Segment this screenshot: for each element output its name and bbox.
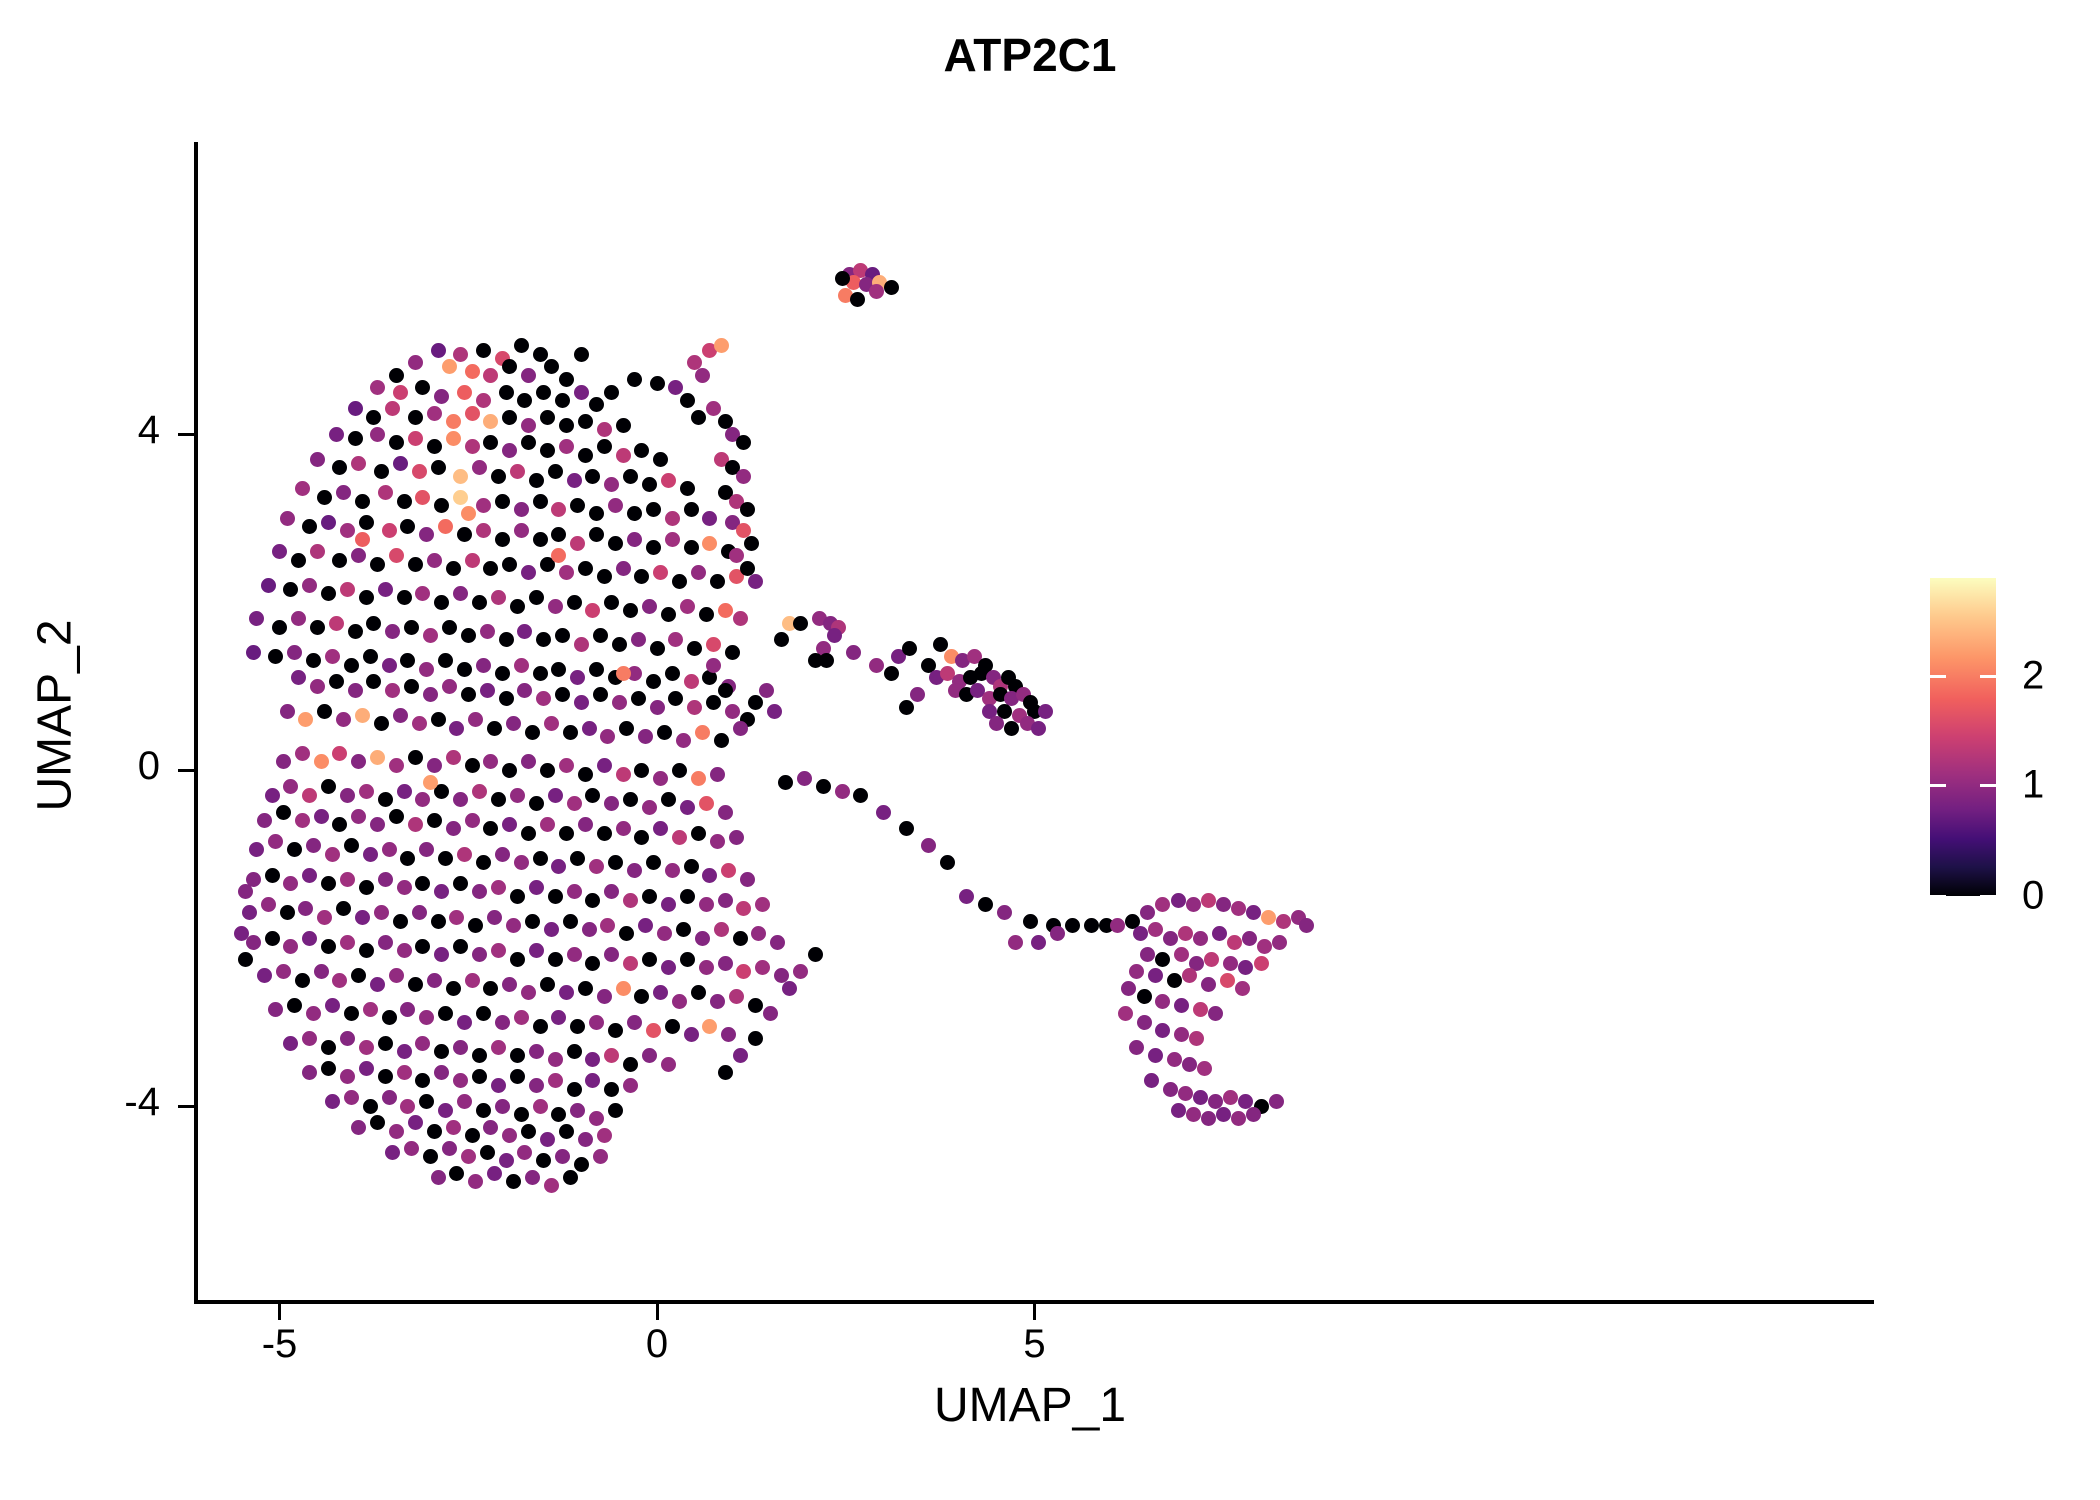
scatter-point: [415, 586, 430, 601]
scatter-point: [729, 830, 744, 845]
scatter-point: [453, 939, 468, 954]
scatter-point: [529, 473, 544, 488]
scatter-point: [695, 368, 710, 383]
scatter-point: [653, 821, 668, 836]
scatter-point: [397, 880, 412, 895]
scatter-point: [1208, 1094, 1223, 1109]
scatter-point: [502, 557, 517, 572]
scatter-point: [397, 1044, 412, 1059]
scatter-point: [642, 1048, 657, 1063]
scatter-point: [842, 267, 857, 282]
scatter-point: [423, 687, 438, 702]
colorbar-tick-label: 1: [2022, 763, 2044, 808]
scatter-point: [559, 985, 574, 1000]
scatter-point: [495, 532, 510, 547]
scatter-point: [668, 380, 683, 395]
scatter-point: [389, 548, 404, 563]
scatter-point: [400, 519, 415, 534]
scatter-point: [634, 569, 649, 584]
scatter-point: [933, 637, 948, 652]
scatter-point: [646, 1023, 661, 1038]
scatter-point: [646, 855, 661, 870]
scatter-point: [453, 1073, 468, 1088]
scatter-point: [1171, 893, 1186, 908]
scatter-point: [453, 792, 468, 807]
scatter-point: [521, 368, 536, 383]
scatter-point: [261, 578, 276, 593]
scatter-point: [585, 893, 600, 908]
scatter-point: [438, 1103, 453, 1118]
scatter-point: [1129, 964, 1144, 979]
scatter-point: [472, 1048, 487, 1063]
scatter-point: [714, 733, 729, 748]
scatter-point: [506, 1174, 521, 1189]
scatter-point: [272, 544, 287, 559]
scatter-point: [725, 515, 740, 530]
scatter-point: [567, 884, 582, 899]
scatter-point: [672, 574, 687, 589]
scatter-point: [559, 372, 574, 387]
scatter-point: [461, 628, 476, 643]
scatter-point: [465, 406, 480, 421]
scatter-point: [540, 410, 555, 425]
scatter-point: [351, 809, 366, 824]
scatter-point: [544, 716, 559, 731]
scatter-point: [608, 670, 623, 685]
scatter-point: [718, 805, 733, 820]
scatter-point: [608, 1103, 623, 1118]
scatter-point: [298, 901, 313, 916]
scatter-point: [559, 418, 574, 433]
scatter-point: [434, 498, 449, 513]
scatter-point: [729, 494, 744, 509]
scatter-point: [665, 1019, 680, 1034]
scatter-point: [397, 943, 412, 958]
scatter-point: [321, 586, 336, 601]
scatter-point: [453, 876, 468, 891]
scatter-point: [567, 947, 582, 962]
scatter-point: [483, 435, 498, 450]
scatter-point: [298, 712, 313, 727]
scatter-point: [710, 994, 725, 1009]
scatter-point: [1121, 981, 1136, 996]
scatter-point: [691, 826, 706, 841]
scatter-point: [835, 784, 850, 799]
scatter-point: [483, 981, 498, 996]
scatter-point: [623, 792, 638, 807]
scatter-point: [382, 658, 397, 673]
scatter-point: [1223, 956, 1238, 971]
scatter-point: [604, 595, 619, 610]
scatter-point: [536, 632, 551, 647]
scatter-point: [374, 464, 389, 479]
scatter-point: [1133, 926, 1148, 941]
scatter-point: [755, 960, 770, 975]
scatter-point: [499, 632, 514, 647]
scatter-point: [755, 897, 770, 912]
scatter-point: [578, 414, 593, 429]
scatter-point: [419, 527, 434, 542]
scatter-point: [351, 548, 366, 563]
y-axis-line: [194, 142, 198, 1304]
scatter-point: [378, 1069, 393, 1084]
scatter-point: [321, 1040, 336, 1055]
scatter-point: [1223, 1090, 1238, 1105]
scatter-point: [978, 897, 993, 912]
scatter-point: [725, 645, 740, 660]
scatter-point: [431, 1170, 446, 1185]
scatter-point: [585, 469, 600, 484]
scatter-point: [359, 515, 374, 530]
scatter-point: [280, 704, 295, 719]
scatter-point: [348, 431, 363, 446]
scatter-point: [578, 981, 593, 996]
scatter-point: [302, 868, 317, 883]
scatter-point: [869, 658, 884, 673]
scatter-point: [574, 695, 589, 710]
scatter-point: [627, 863, 642, 878]
scatter-point: [238, 884, 253, 899]
scatter-point: [570, 536, 585, 551]
scatter-point: [891, 649, 906, 664]
scatter-point: [246, 872, 261, 887]
scatter-point: [710, 767, 725, 782]
scatter-point: [272, 620, 287, 635]
scatter-point: [502, 410, 517, 425]
scatter-point: [634, 830, 649, 845]
scatter-point: [808, 653, 823, 668]
scatter-point: [480, 624, 495, 639]
scatter-point: [548, 1073, 563, 1088]
scatter-point: [585, 1052, 600, 1067]
scatter-point: [910, 687, 925, 702]
scatter-point: [699, 607, 714, 622]
scatter-point: [859, 277, 874, 292]
scatter-point: [314, 809, 329, 824]
scatter-point: [468, 712, 483, 727]
scatter-point: [302, 578, 317, 593]
scatter-point: [415, 939, 430, 954]
scatter-point: [963, 670, 978, 685]
scatter-point: [672, 763, 687, 778]
scatter-point: [355, 494, 370, 509]
colorbar-tick-mark: [1930, 675, 1946, 678]
scatter-point: [400, 851, 415, 866]
scatter-point: [495, 351, 510, 366]
scatter-point: [869, 284, 884, 299]
scatter-point: [283, 582, 298, 597]
scatter-point: [567, 796, 582, 811]
scatter-point: [472, 460, 487, 475]
scatter-point: [393, 708, 408, 723]
scatter-point: [661, 1057, 676, 1072]
scatter-point: [884, 666, 899, 681]
scatter-point: [1163, 1082, 1178, 1097]
scatter-point: [431, 712, 446, 727]
scatter-point: [329, 616, 344, 631]
scatter-point: [661, 960, 676, 975]
scatter-point: [597, 758, 612, 773]
scatter-point: [291, 553, 306, 568]
scatter-point: [487, 1166, 502, 1181]
scatter-point: [393, 914, 408, 929]
scatter-point: [1291, 910, 1306, 925]
scatter-point: [370, 557, 385, 572]
scatter-point: [370, 427, 385, 442]
scatter-point: [374, 716, 389, 731]
scatter-point: [340, 872, 355, 887]
scatter-point: [415, 876, 430, 891]
scatter-point: [1155, 897, 1170, 912]
scatter-point: [865, 267, 880, 282]
scatter-point: [627, 1015, 642, 1030]
scatter-point: [397, 1065, 412, 1080]
scatter-point: [657, 926, 672, 941]
scatter-point: [461, 1149, 476, 1164]
scatter-point: [585, 956, 600, 971]
scatter-point: [1208, 1006, 1223, 1021]
scatter-point: [476, 498, 491, 513]
scatter-point: [714, 338, 729, 353]
scatter-point: [582, 922, 597, 937]
scatter-point: [314, 754, 329, 769]
scatter-point: [1201, 1111, 1216, 1126]
scatter-point: [551, 1010, 566, 1025]
scatter-point: [472, 947, 487, 962]
scatter-point: [597, 569, 612, 584]
scatter-point: [702, 536, 717, 551]
scatter-point: [238, 952, 253, 967]
scatter-point: [634, 989, 649, 1004]
scatter-point: [446, 414, 461, 429]
scatter-point: [344, 1006, 359, 1021]
scatter-point: [408, 817, 423, 832]
scatter-point: [1050, 926, 1065, 941]
scatter-point: [502, 817, 517, 832]
scatter-point: [970, 683, 985, 698]
scatter-point: [899, 700, 914, 715]
y-tick-mark: [178, 769, 194, 772]
scatter-point: [653, 565, 668, 580]
scatter-point: [997, 704, 1012, 719]
scatter-point: [729, 569, 744, 584]
scatter-point: [680, 952, 695, 967]
scatter-point: [831, 620, 846, 635]
scatter-point: [718, 893, 733, 908]
scatter-point: [536, 385, 551, 400]
scatter-point: [476, 658, 491, 673]
scatter-point: [551, 859, 566, 874]
scatter-point: [517, 1145, 532, 1160]
scatter-point: [465, 813, 480, 828]
scatter-point: [385, 683, 400, 698]
scatter-point: [721, 679, 736, 694]
scatter-point: [517, 393, 532, 408]
scatter-point: [499, 691, 514, 706]
scatter-point: [359, 1040, 374, 1055]
scatter-point: [627, 506, 642, 521]
scatter-point: [642, 800, 657, 815]
scatter-point: [351, 754, 366, 769]
scatter-point: [1272, 935, 1287, 950]
scatter-point: [268, 1002, 283, 1017]
scatter-point: [1235, 981, 1250, 996]
scatter-point: [733, 721, 748, 736]
scatter-point: [623, 603, 638, 618]
scatter-point: [589, 662, 604, 677]
scatter-point: [710, 574, 725, 589]
scatter-point: [646, 540, 661, 555]
scatter-point: [351, 1120, 366, 1135]
scatter-point: [476, 343, 491, 358]
scatter-point: [823, 616, 838, 631]
scatter-point: [665, 666, 680, 681]
scatter-point: [767, 704, 782, 719]
scatter-point: [853, 788, 868, 803]
scatter-point: [325, 998, 340, 1013]
scatter-point: [559, 1124, 574, 1139]
scatter-point: [295, 813, 310, 828]
scatter-point: [321, 939, 336, 954]
scatter-point: [699, 796, 714, 811]
scatter-point: [344, 1090, 359, 1105]
scatter-point: [332, 553, 347, 568]
scatter-point: [310, 544, 325, 559]
y-tick-mark: [178, 433, 194, 436]
scatter-point: [521, 435, 536, 450]
scatter-point: [472, 595, 487, 610]
scatter-point: [487, 910, 502, 925]
scatter-point: [314, 964, 329, 979]
scatter-point: [431, 460, 446, 475]
scatter-point: [574, 385, 589, 400]
scatter-point: [589, 1015, 604, 1030]
scatter-point: [600, 918, 615, 933]
scatter-point: [548, 889, 563, 904]
scatter-point: [631, 691, 646, 706]
scatter-point: [1020, 716, 1035, 731]
scatter-point: [521, 1124, 536, 1139]
scatter-point: [378, 935, 393, 950]
scatter-point: [940, 666, 955, 681]
scatter-point: [431, 914, 446, 929]
scatter-point: [438, 851, 453, 866]
scatter-point: [986, 670, 1001, 685]
scatter-point: [446, 750, 461, 765]
scatter-point: [465, 364, 480, 379]
scatter-point: [514, 658, 529, 673]
scatter-point: [514, 1107, 529, 1122]
scatter-point: [423, 1149, 438, 1164]
scatter-point: [261, 897, 276, 912]
scatter-point: [457, 527, 472, 542]
scatter-point: [389, 368, 404, 383]
scatter-point: [623, 1078, 638, 1093]
scatter-point: [748, 1031, 763, 1046]
scatter-point: [317, 490, 332, 505]
scatter-point: [563, 725, 578, 740]
scatter-point: [702, 1019, 717, 1034]
scatter-point: [510, 1069, 525, 1084]
scatter-point: [623, 956, 638, 971]
colorbar-tick-mark: [1980, 675, 1996, 678]
scatter-point: [521, 754, 536, 769]
scatter-point: [721, 1027, 736, 1042]
scatter-point: [476, 1103, 491, 1118]
scatter-point: [695, 725, 710, 740]
scatter-point: [884, 280, 899, 295]
scatter-point: [653, 452, 668, 467]
scatter-point: [736, 469, 751, 484]
scatter-point: [1174, 998, 1189, 1013]
scatter-point: [638, 729, 653, 744]
scatter-point: [1167, 1052, 1182, 1067]
scatter-point: [559, 565, 574, 580]
scatter-point: [604, 947, 619, 962]
scatter-point: [332, 973, 347, 988]
scatter-point: [597, 1128, 612, 1143]
scatter-point: [340, 935, 355, 950]
scatter-point: [853, 263, 868, 278]
scatter-point: [510, 889, 525, 904]
scatter-point: [529, 1044, 544, 1059]
scatter-point: [687, 700, 702, 715]
scatter-point: [378, 485, 393, 500]
scatter-point: [665, 511, 680, 526]
scatter-point: [427, 1124, 442, 1139]
scatter-point: [514, 338, 529, 353]
scatter-point: [748, 998, 763, 1013]
scatter-point: [551, 548, 566, 563]
scatter-point: [389, 1124, 404, 1139]
scatter-point: [446, 561, 461, 576]
scatter-point: [793, 964, 808, 979]
scatter-point: [1220, 973, 1235, 988]
scatter-point: [536, 1153, 551, 1168]
scatter-point: [461, 687, 476, 702]
scatter-point: [415, 490, 430, 505]
scatter-point: [872, 275, 887, 290]
colorbar-tick-label: 2: [2022, 654, 2044, 699]
scatter-point: [340, 1031, 355, 1046]
scatter-point: [476, 1006, 491, 1021]
scatter-point: [276, 805, 291, 820]
scatter-point: [321, 779, 336, 794]
scatter-point: [668, 632, 683, 647]
scatter-point: [287, 842, 302, 857]
scatter-point: [691, 985, 706, 1000]
scatter-point: [525, 1170, 540, 1185]
scatter-point: [646, 502, 661, 517]
scatter-point: [280, 905, 295, 920]
scatter-point: [578, 1132, 593, 1147]
scatter-point: [718, 485, 733, 500]
scatter-point: [310, 620, 325, 635]
scatter-point: [382, 1090, 397, 1105]
scatter-point: [348, 624, 363, 639]
scatter-point: [453, 490, 468, 505]
scatter-point: [740, 712, 755, 727]
scatter-point: [321, 876, 336, 891]
scatter-point: [325, 1094, 340, 1109]
scatter-point: [442, 620, 457, 635]
scatter-point: [902, 641, 917, 656]
scatter-point: [548, 952, 563, 967]
colorbar-tick-mark: [1930, 784, 1946, 787]
scatter-point: [268, 649, 283, 664]
scatter-point: [1084, 918, 1099, 933]
scatter-point: [589, 506, 604, 521]
